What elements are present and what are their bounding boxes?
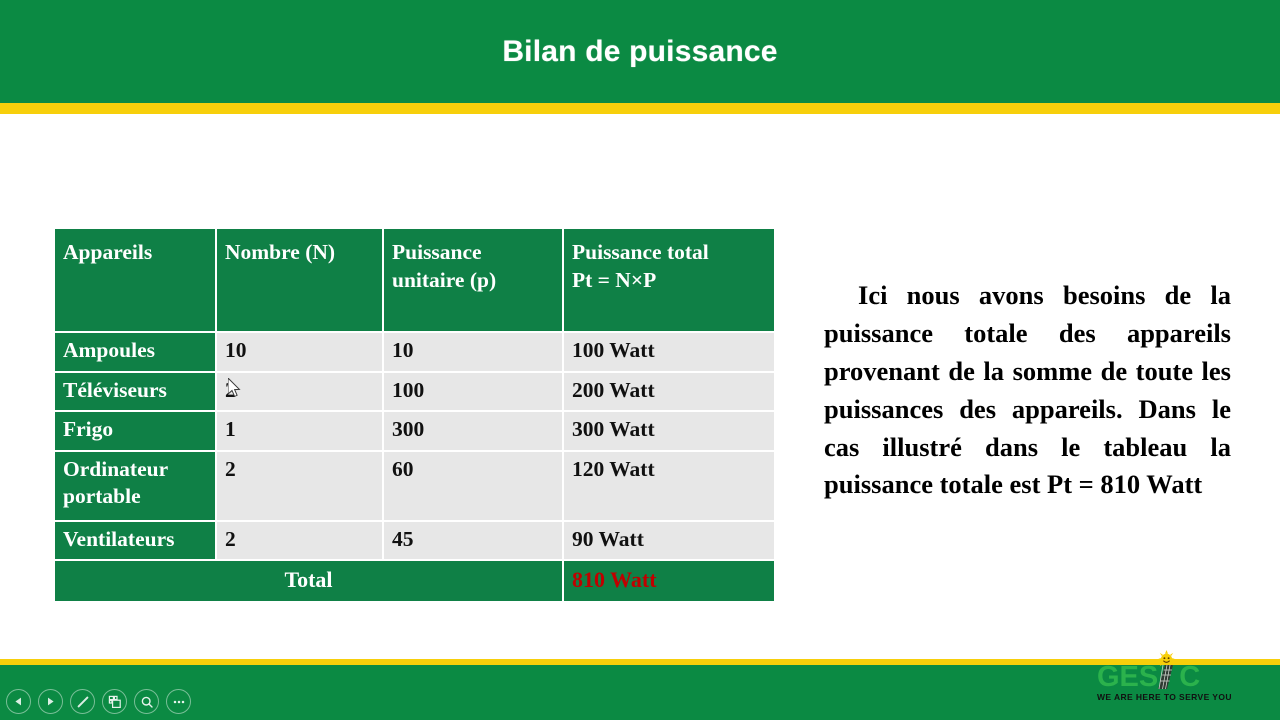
more-options-button[interactable] (166, 689, 191, 714)
explanation-paragraph: Ici nous avons besoins de la puissance t… (824, 277, 1231, 504)
cell-total: 120 Watt (564, 452, 774, 520)
logo-word-part1: GES (1097, 661, 1158, 693)
logo-word-part2: C (1179, 661, 1200, 693)
column-header-puissance-total: Puissance total Pt = N×P (564, 229, 774, 331)
pen-icon (76, 695, 90, 709)
column-header-appareils: Appareils (55, 229, 215, 331)
slide-overview-button[interactable] (102, 689, 127, 714)
column-header-line2: unitaire (p) (392, 268, 496, 292)
column-header-line2: Pt = N×P (572, 268, 656, 292)
cell-nombre: 10 (217, 333, 382, 371)
triangle-left-icon (13, 696, 24, 707)
previous-slide-button[interactable] (6, 689, 31, 714)
cell-unitaire: 45 (384, 522, 562, 560)
ellipsis-icon (172, 699, 186, 705)
cell-total: 200 Watt (564, 373, 774, 411)
cell-unitaire: 100 (384, 373, 562, 411)
column-header-puissance-unitaire: Puissance unitaire (p) (384, 229, 562, 331)
triangle-right-icon (45, 696, 56, 707)
presentation-toolbar (6, 689, 191, 714)
table-total-row: Total 810 Watt (55, 561, 774, 601)
cell-appareil: Frigo (55, 412, 215, 450)
gesac-logo: GESAC WE ARE HERE TO SERVE YOU (1097, 650, 1227, 706)
table-row: Ampoules 10 10 100 Watt (55, 333, 774, 371)
cell-total: 300 Watt (564, 412, 774, 450)
cell-unitaire: 10 (384, 333, 562, 371)
logo-tagline: WE ARE HERE TO SERVE YOU (1097, 692, 1227, 702)
grid-slides-icon (108, 695, 122, 709)
pen-tool-button[interactable] (70, 689, 95, 714)
cell-appareil: Ventilateurs (55, 522, 215, 560)
cell-nombre: 1 (217, 412, 382, 450)
column-header-line1: Puissance (392, 240, 482, 264)
table-header-row: Appareils Nombre (N) Puissance unitaire … (55, 229, 774, 331)
magnifier-icon (140, 695, 154, 709)
slide-header: Bilan de puissance (0, 0, 1280, 103)
cell-nombre: 2 (217, 452, 382, 520)
total-value: 810 Watt (564, 561, 774, 601)
solar-panel-icon (1152, 663, 1177, 690)
cell-total: 100 Watt (564, 333, 774, 371)
power-balance-table: Appareils Nombre (N) Puissance unitaire … (53, 227, 776, 603)
column-header-line1: Puissance total (572, 240, 709, 264)
cell-unitaire: 60 (384, 452, 562, 520)
page-title: Bilan de puissance (502, 35, 777, 69)
total-label: Total (55, 561, 562, 601)
cell-total: 90 Watt (564, 522, 774, 560)
cell-appareil: Téléviseurs (55, 373, 215, 411)
table-row: Frigo 1 300 300 Watt (55, 412, 774, 450)
header-accent-rule (0, 103, 1280, 114)
cell-nombre: 2 (217, 522, 382, 560)
cell-nombre: 2 (217, 373, 382, 411)
slide-footer (0, 665, 1280, 720)
cell-unitaire: 300 (384, 412, 562, 450)
table-row: Ordinateur portable 2 60 120 Watt (55, 452, 774, 520)
table-row: Téléviseurs 2 100 200 Watt (55, 373, 774, 411)
table-row: Ventilateurs 2 45 90 Watt (55, 522, 774, 560)
next-slide-button[interactable] (38, 689, 63, 714)
cell-appareil: Ampoules (55, 333, 215, 371)
slide-content-area: Appareils Nombre (N) Puissance unitaire … (0, 114, 1280, 659)
column-header-nombre: Nombre (N) (217, 229, 382, 331)
cell-appareil: Ordinateur portable (55, 452, 215, 520)
zoom-tool-button[interactable] (134, 689, 159, 714)
